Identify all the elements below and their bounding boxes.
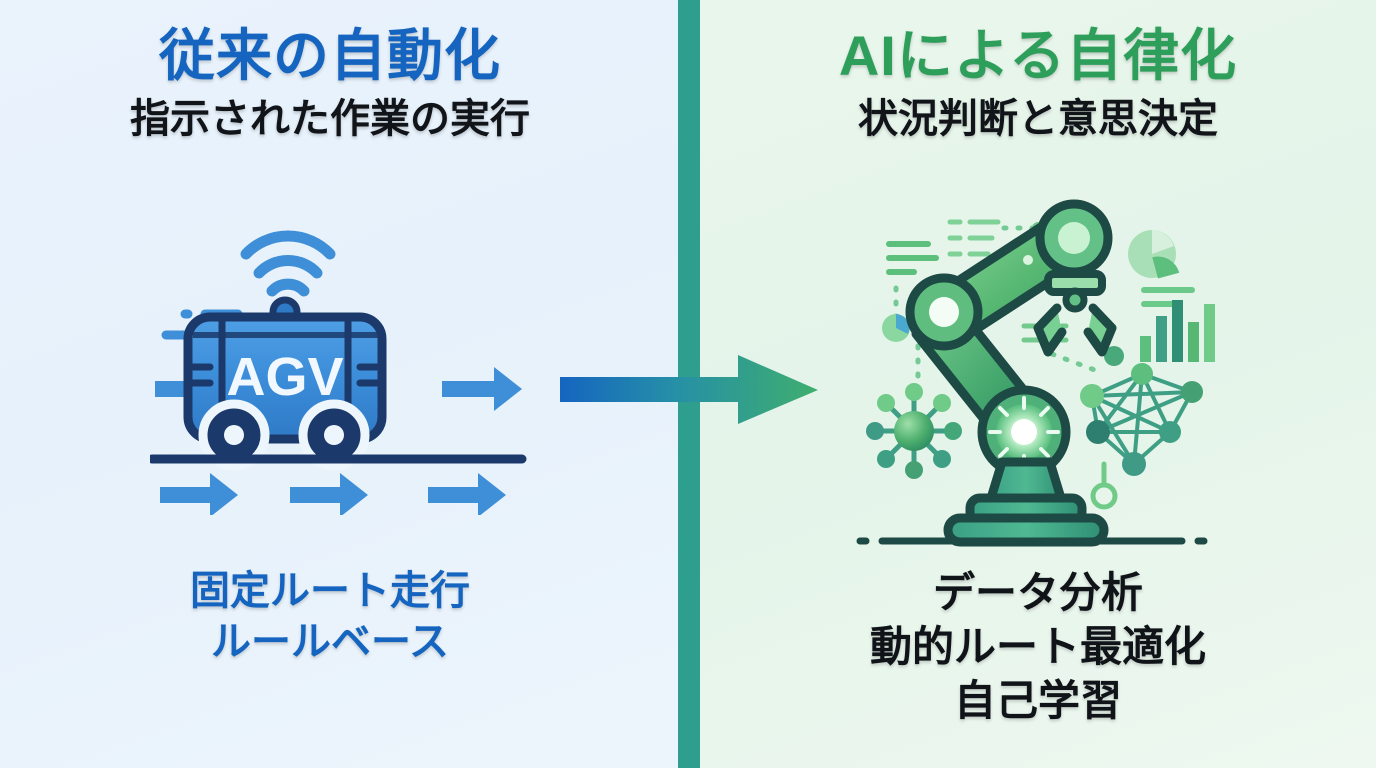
robot-elbow-joint bbox=[910, 278, 978, 346]
right-heading-group: AIによる自律化 状況判断と意思決定 bbox=[700, 26, 1376, 142]
robot-wrist-head bbox=[1040, 204, 1108, 309]
infographic-canvas: AGV bbox=[0, 0, 1376, 768]
left-caption-2: ルールベース bbox=[0, 617, 660, 668]
robot-base bbox=[948, 498, 1104, 542]
right-caption-3: 自己学習 bbox=[700, 674, 1376, 728]
left-title: 従来の自動化 bbox=[0, 26, 660, 86]
left-heading-group: 従来の自動化 指示された作業の実行 bbox=[0, 26, 660, 142]
sensor-key-icon bbox=[1093, 464, 1115, 507]
molecule-node-icon bbox=[866, 383, 962, 479]
right-title: AIによる自律化 bbox=[700, 26, 1376, 86]
transition-arrow bbox=[560, 352, 820, 427]
right-caption-2: 動的ルート最適化 bbox=[700, 620, 1376, 674]
motion-arrows-bottom bbox=[160, 473, 506, 515]
network-graph bbox=[1080, 346, 1203, 476]
ai-robot-illustration bbox=[852, 196, 1232, 548]
right-caption-group: データ分析 動的ルート最適化 自己学習 bbox=[700, 566, 1376, 727]
left-subtitle: 指示された作業の実行 bbox=[0, 96, 660, 142]
bar-chart bbox=[1140, 300, 1215, 362]
agv-label: AGV bbox=[226, 347, 343, 407]
pie-chart bbox=[1128, 230, 1192, 304]
gripper-claw-icon bbox=[1038, 308, 1112, 352]
wifi-icon bbox=[246, 236, 330, 291]
right-subtitle: 状況判断と意思決定 bbox=[700, 96, 1376, 142]
left-caption-group: 固定ルート走行 ルールベース bbox=[0, 566, 660, 668]
agv-illustration: AGV bbox=[150, 215, 550, 515]
pie-chart-small bbox=[882, 314, 910, 342]
right-caption-1: データ分析 bbox=[700, 566, 1376, 620]
left-caption-1: 固定ルート走行 bbox=[0, 566, 660, 617]
